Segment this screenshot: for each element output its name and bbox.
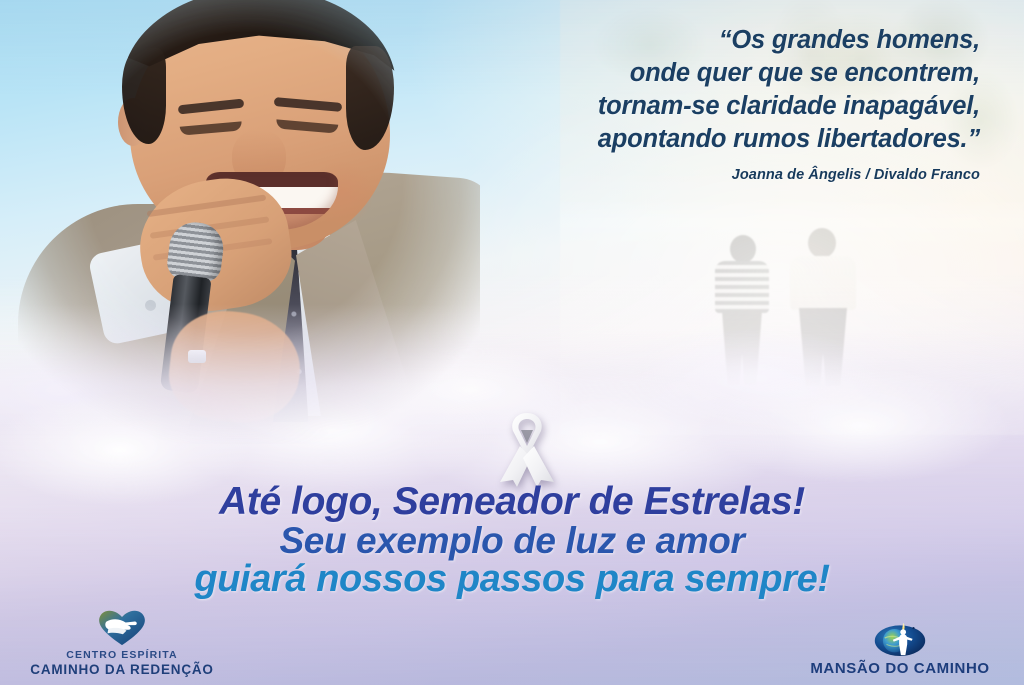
logo-mansao-do-caminho: MANSÃO DO CAMINHO <box>790 617 1010 677</box>
headline-line-1: Até logo, Semeador de Estrelas! <box>0 482 1024 521</box>
quote-line-2: onde quer que se encontrem, <box>420 57 980 90</box>
quote-line-1: “Os grandes homens, <box>420 24 980 57</box>
headline-block: Até logo, Semeador de Estrelas! Seu exem… <box>0 482 1024 599</box>
quote-attribution: Joanna de Ângelis / Divaldo Franco <box>420 167 980 183</box>
headline-line-3: guiará nossos passos para sempre! <box>0 560 1024 599</box>
heart-hands-icon <box>22 605 222 647</box>
logo-centro-espirita: CENTRO ESPÍRITA CAMINHO DA REDENÇÃO <box>22 605 222 677</box>
headline-line-2: Seu exemplo de luz e amor <box>0 521 1024 560</box>
logo-right-line-1: MANSÃO DO CAMINHO <box>790 660 1010 677</box>
quote-block: “Os grandes homens, onde quer que se enc… <box>420 24 980 183</box>
logo-left-line-2: CAMINHO DA REDENÇÃO <box>22 662 222 677</box>
logo-left-line-1: CENTRO ESPÍRITA <box>22 649 222 661</box>
globe-figure-icon <box>790 617 1010 659</box>
quote-line-3: tornam-se claridade inapagável, <box>420 90 980 123</box>
quote-line-4: apontando rumos libertadores.” <box>420 123 980 156</box>
white-mourning-ribbon-icon <box>496 410 558 488</box>
memorial-poster: “Os grandes homens, onde quer que se enc… <box>0 0 1024 685</box>
portrait-smiling-man-with-microphone <box>10 0 480 444</box>
